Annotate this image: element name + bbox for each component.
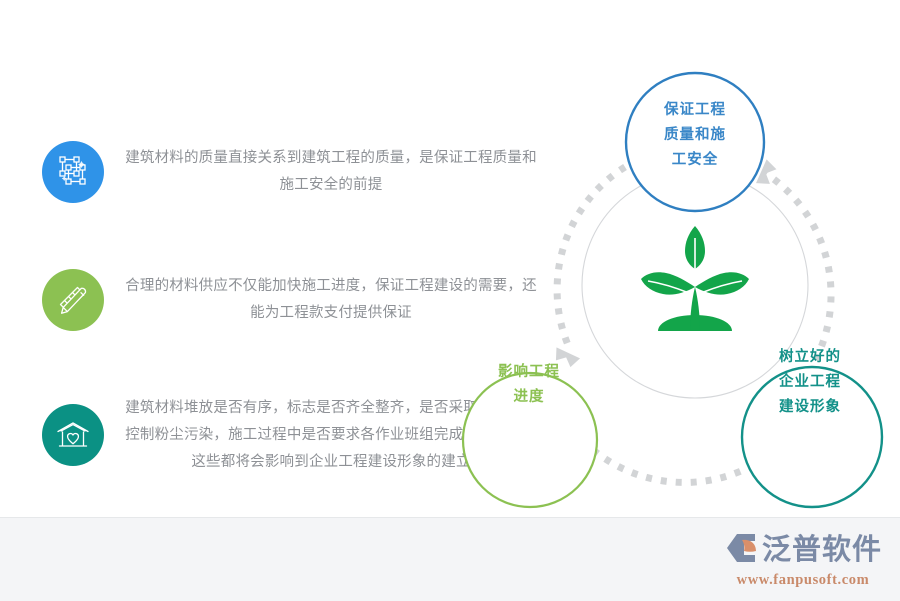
logo-url: www.fanpusoft.com — [737, 572, 870, 589]
brand-logo[interactable]: 泛普软件 www.fanpusoft.com — [724, 532, 882, 589]
house-heart-icon — [42, 404, 104, 466]
logo-lockup: 泛普软件 — [724, 532, 882, 569]
sprout-seedling-icon — [641, 226, 749, 331]
nodes-graph-icon — [42, 141, 104, 203]
node-circle-left[interactable] — [463, 373, 597, 507]
infographic-canvas: 建筑材料的质量直接关系到建筑工程的质量，是保证工程质量和施工安全的前提 合理的材… — [0, 0, 900, 600]
cycle-diagram: 保证工程 质量和施 工安全 影响工程 进度 树立好的 企业工程 建设形象 — [440, 55, 900, 510]
fanpu-logo-mark — [724, 532, 758, 569]
node-circle-right[interactable] — [742, 367, 882, 507]
node-circle-top[interactable] — [626, 73, 764, 211]
ruler-pencil-icon — [42, 269, 104, 331]
arrow-top-to-left — [551, 167, 625, 369]
logo-wordmark: 泛普软件 — [762, 536, 882, 565]
